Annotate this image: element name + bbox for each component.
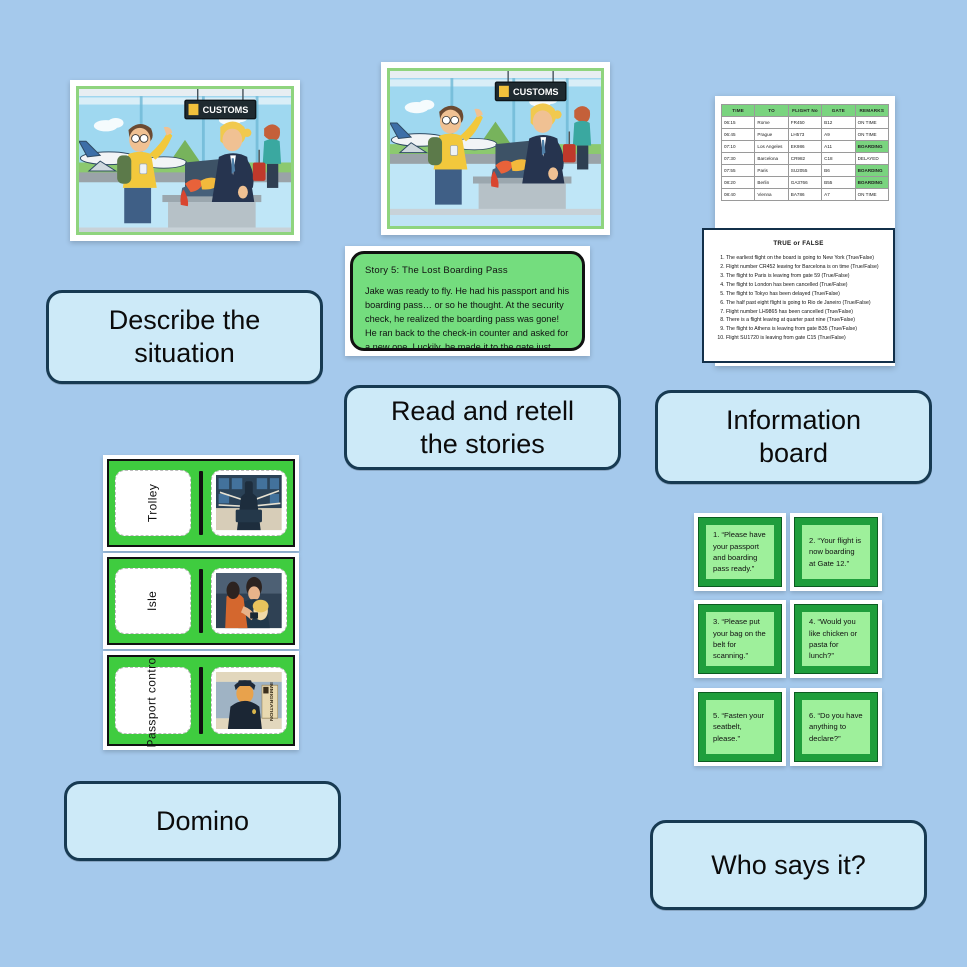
label-describe-line2: situation — [109, 337, 261, 370]
domino-divider — [199, 569, 203, 633]
cell-time: 07:10 — [722, 141, 755, 153]
cell-time: 06:45 — [722, 129, 755, 141]
cell-remarks: BOARDING — [855, 165, 888, 177]
who-says-it-card-3-text: 3. “Please put your bag on the belt for … — [706, 612, 774, 666]
cell-flight: LH573 — [788, 129, 821, 141]
label-who-says-it-line1: Who says it? — [711, 849, 866, 882]
list-item: The half past eight flight is going to R… — [726, 299, 883, 307]
who-says-it-card-6-text: 6. “Do you have anything to declare?” — [802, 700, 870, 754]
customs-scene-illustration-2: CUSTOMS — [390, 71, 601, 215]
col-to: TO — [755, 105, 788, 117]
svg-text:CUSTOMS: CUSTOMS — [203, 105, 249, 115]
cell-to: Berlin — [755, 177, 788, 189]
cell-remarks: ON TIME — [855, 129, 888, 141]
cell-time: 07:30 — [722, 153, 755, 165]
table-row: 06:45 Prague LH573 A9 ON TIME — [722, 129, 889, 141]
cell-flight: BA786 — [788, 189, 821, 201]
domino-tile-trolley[interactable]: Trolley — [103, 455, 299, 551]
domino-picture-cell — [211, 470, 287, 535]
label-read-and-retell[interactable]: Read and retell the stories — [344, 385, 621, 470]
list-item: The flight to Tokyo has been delayed (Tr… — [726, 290, 883, 298]
cell-gate: A11 — [822, 141, 855, 153]
cell-flight: SU2055 — [788, 165, 821, 177]
col-remarks: REMARKS — [855, 105, 888, 117]
who-says-it-card-2-frame: 2. “Your flight is now boarding at Gate … — [794, 517, 878, 587]
cell-flight: CR982 — [788, 153, 821, 165]
cell-gate: B12 — [822, 117, 855, 129]
cell-to: Prague — [755, 129, 788, 141]
true-false-title: TRUE or FALSE — [712, 240, 885, 247]
domino-word-label: Isle — [146, 591, 160, 611]
cell-to: Los Angeles — [755, 141, 788, 153]
who-says-it-card-6[interactable]: 6. “Do you have anything to declare?” — [790, 688, 882, 766]
who-says-it-card-5-frame: 5. “Fasten your seatbelt, please.” — [698, 692, 782, 762]
label-information-board-line2: board — [726, 437, 861, 470]
true-false-worksheet[interactable]: TRUE or FALSE The earliest flight on the… — [702, 228, 895, 363]
cell-gate: C18 — [822, 153, 855, 165]
trolley-icon — [216, 475, 282, 530]
story-card[interactable]: Story 5: The Lost Boarding Pass Jake was… — [345, 246, 590, 356]
cell-time: 06:15 — [722, 117, 755, 129]
who-says-it-card-1[interactable]: 1. “Please have your passport and boardi… — [694, 513, 786, 591]
who-says-it-card-2-text: 2. “Your flight is now boarding at Gate … — [802, 525, 870, 579]
who-says-it-card-4-frame: 4. “Would you like chicken or pasta for … — [794, 604, 878, 674]
table-row: 07:55 Paris SU2055 B6 BOARDING — [722, 165, 889, 177]
list-item: The flight to London has been cancelled … — [726, 281, 883, 289]
cell-gate: B6 — [822, 165, 855, 177]
svg-text:IMMIGRATION: IMMIGRATION — [268, 682, 273, 721]
list-item: Flight SU1720 is leaving from gate C15 (… — [726, 334, 883, 342]
domino-word-label: Trolley — [146, 484, 160, 522]
label-read-retell-line2: the stories — [391, 428, 574, 461]
label-describe-line1: Describe the — [109, 304, 261, 337]
cell-time: 08:20 — [722, 177, 755, 189]
label-domino[interactable]: Domino — [64, 781, 341, 861]
story-body: Jake was ready to fly. He had his passpo… — [365, 285, 570, 351]
cell-to: Barcelona — [755, 153, 788, 165]
cell-remarks: ON TIME — [855, 117, 888, 129]
label-information-board[interactable]: Information board — [655, 390, 932, 484]
flight-table-header-row: TIME TO FLIGHT No GATE REMARKS — [722, 105, 889, 117]
cell-gate: A9 — [822, 129, 855, 141]
list-item: Flight number CR452 leaving for Barcelon… — [726, 263, 883, 271]
cell-remarks: ON TIME — [855, 189, 888, 201]
flight-table-body: 06:15 Rome FR450 B12 ON TIME 06:45 Pragu… — [722, 117, 889, 201]
cell-flight: FR450 — [788, 117, 821, 129]
who-says-it-card-3-frame: 3. “Please put your bag on the belt for … — [698, 604, 782, 674]
cell-remarks: BOARDING — [855, 177, 888, 189]
customs-picture-1-frame: CUSTOMS — [76, 86, 294, 235]
col-flight-no: FLIGHT No — [788, 105, 821, 117]
cell-flight: GA3766 — [788, 177, 821, 189]
who-says-it-card-5-text: 5. “Fasten your seatbelt, please.” — [706, 700, 774, 754]
col-gate: GATE — [822, 105, 855, 117]
domino-divider — [199, 471, 203, 535]
domino-tile-trolley-inner: Trolley — [107, 459, 295, 547]
domino-picture-cell — [211, 568, 287, 633]
domino-tile-passport-control-inner: Passport control IMMIGRATION — [107, 655, 295, 746]
cell-time: 07:55 — [722, 165, 755, 177]
customs-picture-1[interactable]: CUSTOMS — [70, 80, 300, 241]
customs-picture-2[interactable]: CUSTOMS — [381, 62, 610, 235]
table-row: 07:10 Los Angeles EK986 A11 BOARDING — [722, 141, 889, 153]
flight-information-table: TIME TO FLIGHT No GATE REMARKS 06:15 Rom… — [721, 104, 889, 201]
cell-gate: A7 — [822, 189, 855, 201]
who-says-it-card-4[interactable]: 4. “Would you like chicken or pasta for … — [790, 600, 882, 678]
who-says-it-card-1-frame: 1. “Please have your passport and boardi… — [698, 517, 782, 587]
cell-remarks: BOARDING — [855, 141, 888, 153]
domino-picture-cell: IMMIGRATION — [211, 667, 287, 735]
label-information-board-line1: Information — [726, 404, 861, 437]
domino-tile-isle[interactable]: Isle — [103, 553, 299, 649]
svg-text:CUSTOMS: CUSTOMS — [513, 87, 558, 97]
who-says-it-card-4-text: 4. “Would you like chicken or pasta for … — [802, 612, 870, 666]
list-item: The flight to Athens is leaving from gat… — [726, 325, 883, 333]
domino-tile-isle-inner: Isle — [107, 557, 295, 645]
label-who-says-it[interactable]: Who says it? — [650, 820, 927, 910]
domino-word-cell: Passport control — [115, 667, 191, 735]
who-says-it-card-1-text: 1. “Please have your passport and boardi… — [706, 525, 774, 579]
cell-to: Rome — [755, 117, 788, 129]
label-describe-the-situation[interactable]: Describe the situation — [46, 290, 323, 384]
cell-gate: B55 — [822, 177, 855, 189]
cell-time: 08:40 — [722, 189, 755, 201]
customs-scene-illustration-1: CUSTOMS — [79, 89, 291, 234]
label-domino-line1: Domino — [156, 805, 249, 838]
label-read-retell-line1: Read and retell — [391, 395, 574, 428]
table-row: 06:15 Rome FR450 B12 ON TIME — [722, 117, 889, 129]
customs-picture-2-frame: CUSTOMS — [387, 68, 604, 229]
list-item: Flight number LH9865 has been cancelled … — [726, 308, 883, 316]
who-says-it-card-5[interactable]: 5. “Fasten your seatbelt, please.” — [694, 688, 786, 766]
table-row: 08:40 Vienna BA786 A7 ON TIME — [722, 189, 889, 201]
list-item: The flight to Paris is leaving from gate… — [726, 272, 883, 280]
cell-flight: EK986 — [788, 141, 821, 153]
cell-remarks: DELAYED — [855, 153, 888, 165]
table-row: 08:20 Berlin GA3766 B55 BOARDING — [722, 177, 889, 189]
activity-board-canvas: CUSTOMS — [0, 0, 967, 967]
list-item: The earliest flight on the board is goin… — [726, 254, 883, 262]
table-row: 07:30 Barcelona CR982 C18 DELAYED — [722, 153, 889, 165]
list-item: There is a flight leaving at quarter pas… — [726, 316, 883, 324]
who-says-it-card-2[interactable]: 2. “Your flight is now boarding at Gate … — [790, 513, 882, 591]
domino-divider — [199, 667, 203, 733]
who-says-it-card-3[interactable]: 3. “Please put your bag on the belt for … — [694, 600, 786, 678]
true-false-list: The earliest flight on the board is goin… — [712, 254, 885, 343]
cell-to: Paris — [755, 165, 788, 177]
domino-tile-passport-control[interactable]: Passport control IMMIGRATION — [103, 651, 299, 750]
passport-control-icon: IMMIGRATION — [216, 672, 282, 730]
story-card-inner: Story 5: The Lost Boarding Pass Jake was… — [350, 251, 585, 351]
domino-word-cell: Trolley — [115, 470, 191, 535]
col-time: TIME — [722, 105, 755, 117]
story-title: Story 5: The Lost Boarding Pass — [365, 265, 570, 276]
who-says-it-card-6-frame: 6. “Do you have anything to declare?” — [794, 692, 878, 762]
domino-word-label: Passport control — [146, 654, 160, 747]
domino-word-cell: Isle — [115, 568, 191, 633]
cell-to: Vienna — [755, 189, 788, 201]
aisle-icon — [216, 573, 282, 628]
